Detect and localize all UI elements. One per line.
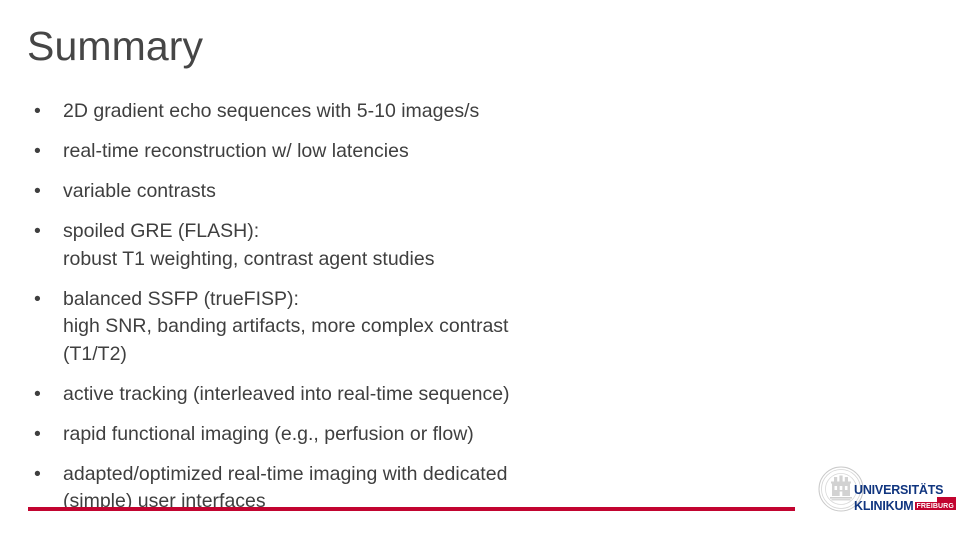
logo-freiburg-badge: FREIBURG (915, 502, 956, 510)
bullet-marker-icon: • (34, 178, 46, 206)
bullet-line: (simple) user interfaces (63, 488, 790, 516)
bullet-line: high SNR, banding artifacts, more comple… (63, 313, 790, 341)
bullet-line: spoiled GRE (FLASH): (63, 218, 790, 246)
bullet-marker-icon: • (34, 421, 46, 449)
bullet-line: variable contrasts (63, 178, 790, 206)
bullet-line: balanced SSFP (trueFISP): (63, 286, 790, 314)
bullet-line: real-time reconstruction w/ low latencie… (63, 138, 790, 166)
footer-divider (28, 507, 795, 511)
bullet-line: active tracking (interleaved into real-t… (63, 381, 790, 409)
logo-klinikum-text: KLINIKUM (854, 499, 914, 513)
bullet-list: •2D gradient echo sequences with 5-10 im… (30, 98, 790, 528)
bullet-item: •active tracking (interleaved into real-… (30, 381, 790, 409)
page-title: Summary (27, 24, 203, 69)
bullet-item: •variable contrasts (30, 178, 790, 206)
bullet-line: adapted/optimized real-time imaging with… (63, 461, 790, 489)
bullet-marker-icon: • (34, 98, 46, 126)
bullet-item: •balanced SSFP (trueFISP):high SNR, band… (30, 286, 790, 369)
bullet-line: rapid functional imaging (e.g., perfusio… (63, 421, 790, 449)
bullet-line: (T1/T2) (63, 341, 790, 369)
bullet-item: •2D gradient echo sequences with 5-10 im… (30, 98, 790, 126)
bullet-line: robust T1 weighting, contrast agent stud… (63, 246, 790, 274)
bullet-marker-icon: • (34, 461, 46, 489)
university-logo: UNIVERSITÄTS KLINIKUMFREIBURG (818, 466, 956, 522)
logo-universitats-text: UNIVERSITÄTS (854, 484, 956, 497)
bullet-item: •spoiled GRE (FLASH):robust T1 weighting… (30, 218, 790, 273)
bullet-item: •real-time reconstruction w/ low latenci… (30, 138, 790, 166)
slide: Summary •2D gradient echo sequences with… (0, 0, 960, 540)
bullet-marker-icon: • (34, 218, 46, 246)
bullet-item: •rapid functional imaging (e.g., perfusi… (30, 421, 790, 449)
bullet-line: 2D gradient echo sequences with 5-10 ima… (63, 98, 790, 126)
logo-accent-bar (937, 497, 956, 502)
bullet-marker-icon: • (34, 381, 46, 409)
bullet-marker-icon: • (34, 286, 46, 314)
bullet-marker-icon: • (34, 138, 46, 166)
